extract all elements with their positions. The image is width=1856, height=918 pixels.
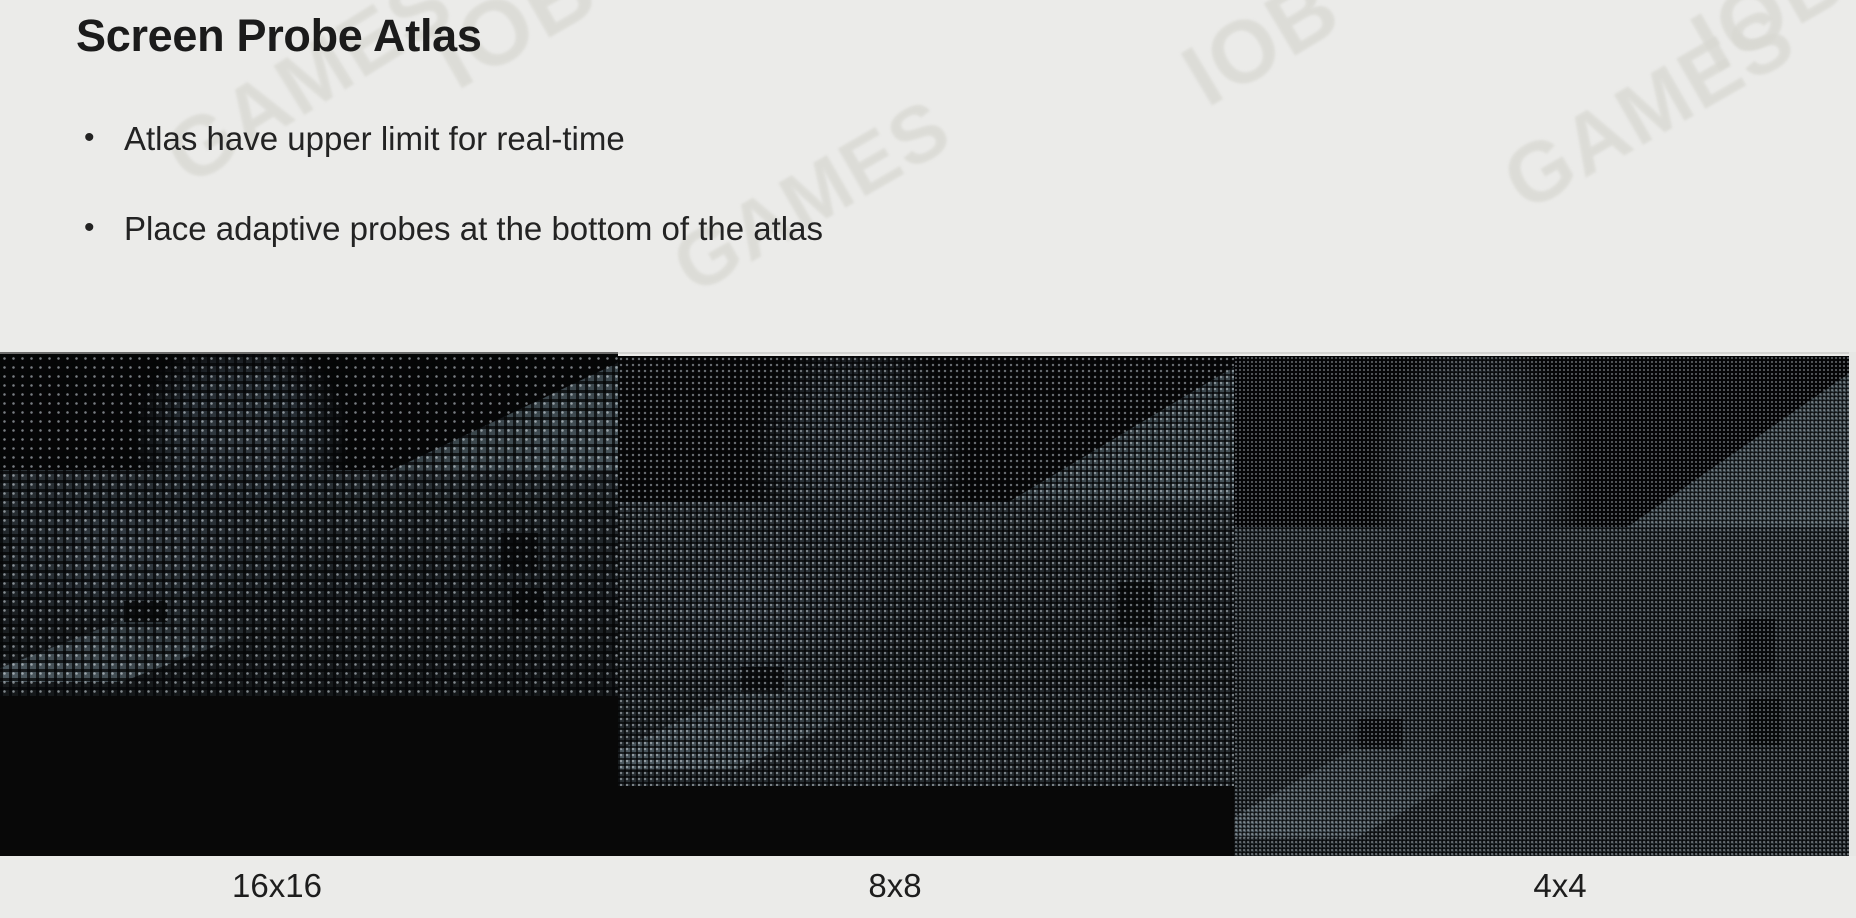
bullet-list: • Atlas have upper limit for real-time •… xyxy=(84,118,1284,299)
atlas-panel-4x4 xyxy=(1234,356,1856,856)
probe-render-16x16 xyxy=(0,354,618,696)
probe-render-4x4 xyxy=(1234,356,1856,856)
atlas-comparison-strip xyxy=(0,352,1856,856)
scene-window xyxy=(512,588,544,620)
bullet-dot-icon: • xyxy=(84,208,124,247)
slide-text-area: Screen Probe Atlas • Atlas have upper li… xyxy=(0,0,1856,356)
scene-dark-object xyxy=(741,667,784,693)
scene-dark-object xyxy=(124,601,167,621)
scene-noise-band xyxy=(618,690,1234,786)
scene-window xyxy=(501,533,538,569)
bullet-dot-icon: • xyxy=(84,118,124,157)
atlas-panel-16x16 xyxy=(0,352,618,856)
scene-dark-object xyxy=(1358,719,1402,749)
probe-render-8x8 xyxy=(618,356,1234,786)
scene-noise-band xyxy=(1234,745,1856,856)
list-item-label: Atlas have upper limit for real-time xyxy=(124,118,1284,159)
scene-window xyxy=(1749,699,1781,745)
scene-window xyxy=(1128,650,1160,690)
list-item: • Place adaptive probes at the bottom of… xyxy=(84,208,1284,249)
scene-tree-canopy xyxy=(1371,356,1582,577)
scene-tree-canopy xyxy=(136,354,346,504)
atlas-caption-4x4: 4x4 xyxy=(1533,867,1586,905)
scene-window xyxy=(1117,582,1154,627)
caption-row: 16x16 8x8 4x4 xyxy=(0,856,1856,918)
atlas-panel-8x8 xyxy=(618,356,1234,856)
slide-root: GAMES IOB GAMES IOB GAMES IOB Screen Pro… xyxy=(0,0,1856,918)
scene-tree-canopy xyxy=(754,356,963,545)
atlas-caption-16x16: 16x16 xyxy=(232,867,322,905)
list-item-label: Place adaptive probes at the bottom of t… xyxy=(124,208,1284,249)
scene-window xyxy=(1738,619,1775,672)
strip-top-divider xyxy=(0,352,1856,354)
atlas-caption-8x8: 8x8 xyxy=(868,867,921,905)
list-item: • Atlas have upper limit for real-time xyxy=(84,118,1284,159)
page-title: Screen Probe Atlas xyxy=(76,11,482,61)
strip-right-edge xyxy=(1849,352,1856,856)
